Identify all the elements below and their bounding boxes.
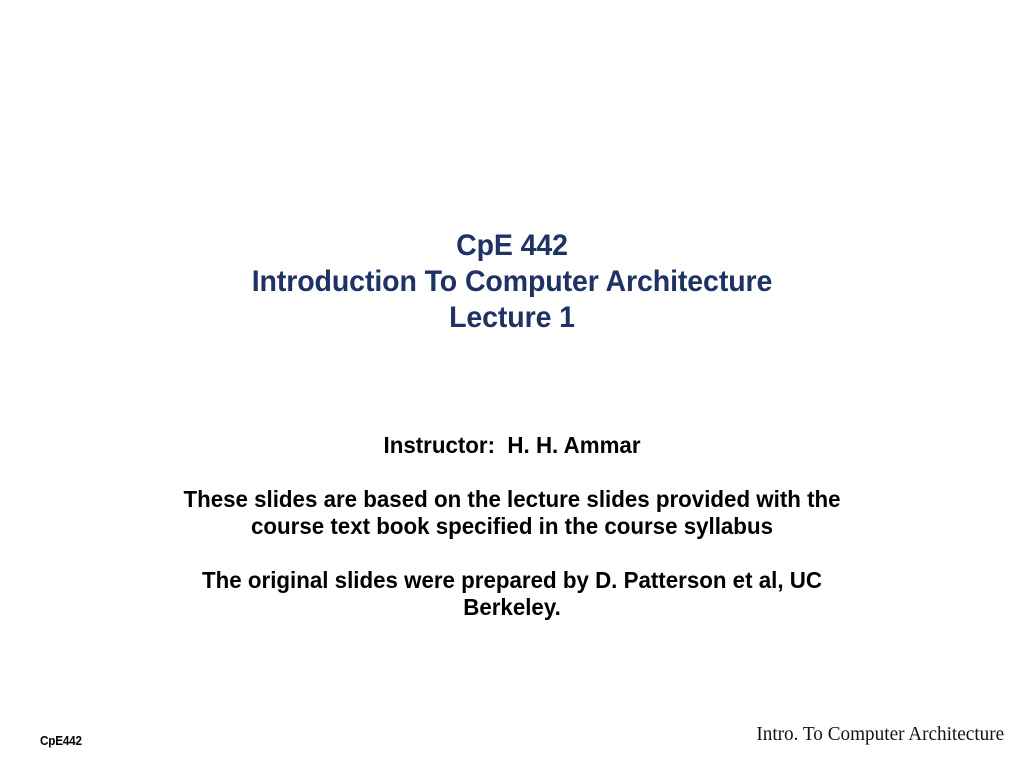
paragraph-spacer	[162, 459, 862, 486]
original-slides-credit-paragraph: The original slides were prepared by D. …	[173, 567, 852, 621]
slide-title-block: CpE 442 Introduction To Computer Archite…	[0, 228, 1024, 336]
source-attribution-paragraph: These slides are based on the lecture sl…	[173, 486, 852, 540]
slide-body-block: Instructor: H. H. Ammar These slides are…	[162, 432, 862, 621]
instructor-line: Instructor: H. H. Ammar	[173, 432, 852, 459]
footer-course-title: Intro. To Computer Architecture	[756, 722, 1004, 746]
title-line-lecture-number: Lecture 1	[26, 300, 999, 336]
title-line-course-code: CpE 442	[26, 228, 999, 264]
title-line-course-name: Introduction To Computer Architecture	[26, 264, 999, 300]
footer-course-code: CpE442	[40, 733, 82, 748]
paragraph-spacer	[162, 540, 862, 567]
presentation-slide: CpE 442 Introduction To Computer Archite…	[0, 0, 1024, 768]
